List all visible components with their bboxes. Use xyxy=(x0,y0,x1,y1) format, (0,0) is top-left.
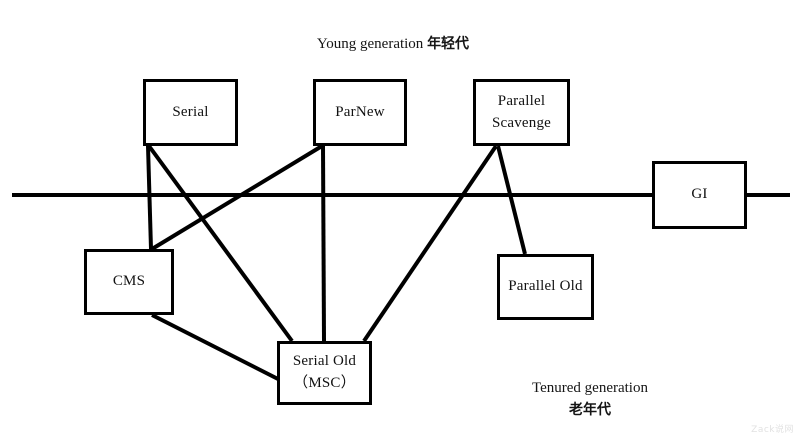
node-serial-old-label-line2: （MSC） xyxy=(293,373,356,395)
watermark: Zack说网 xyxy=(751,422,794,435)
young-generation-label-en: Young generation xyxy=(317,36,423,52)
node-parallel-old[interactable]: Parallel Old xyxy=(497,254,594,320)
node-parallel-scavenge-label: Parallel xyxy=(498,91,545,113)
node-parnew-label: ParNew xyxy=(335,102,385,124)
node-parallel-scavenge-label-line2: Scavenge xyxy=(492,113,551,135)
node-serial[interactable]: Serial xyxy=(143,79,238,146)
node-serial-old[interactable]: Serial Old （MSC） xyxy=(277,341,372,405)
node-parallel-scavenge[interactable]: Parallel Scavenge xyxy=(473,79,570,146)
edge-parnew-cms xyxy=(152,146,322,249)
edge-serial-cms xyxy=(148,146,151,249)
node-g1[interactable]: GI xyxy=(652,161,747,229)
edge-parallel-scavenge-parallel-old xyxy=(498,146,525,254)
edge-parnew-serial-old xyxy=(323,146,324,341)
node-g1-label: GI xyxy=(691,184,707,206)
edge-parallel-scavenge-serial-old xyxy=(364,146,496,341)
node-serial-old-label: Serial Old xyxy=(293,351,356,373)
edge-cms-serial-old xyxy=(152,315,278,379)
node-parallel-old-label: Parallel Old xyxy=(508,276,582,298)
tenured-generation-caption: Tenured generation 老年代 xyxy=(500,377,680,421)
young-generation-label-cjk: 年轻代 xyxy=(427,36,469,52)
node-cms-label: CMS xyxy=(113,271,145,293)
young-generation-caption: Young generation 年轻代 xyxy=(278,33,508,56)
node-cms[interactable]: CMS xyxy=(84,249,174,315)
tenured-generation-label-en: Tenured generation xyxy=(500,377,680,400)
tenured-generation-label-cjk: 老年代 xyxy=(500,400,680,421)
node-serial-label: Serial xyxy=(172,102,208,124)
node-parnew[interactable]: ParNew xyxy=(313,79,407,146)
diagram-canvas: Young generation 年轻代 Tenured generation … xyxy=(0,0,800,438)
